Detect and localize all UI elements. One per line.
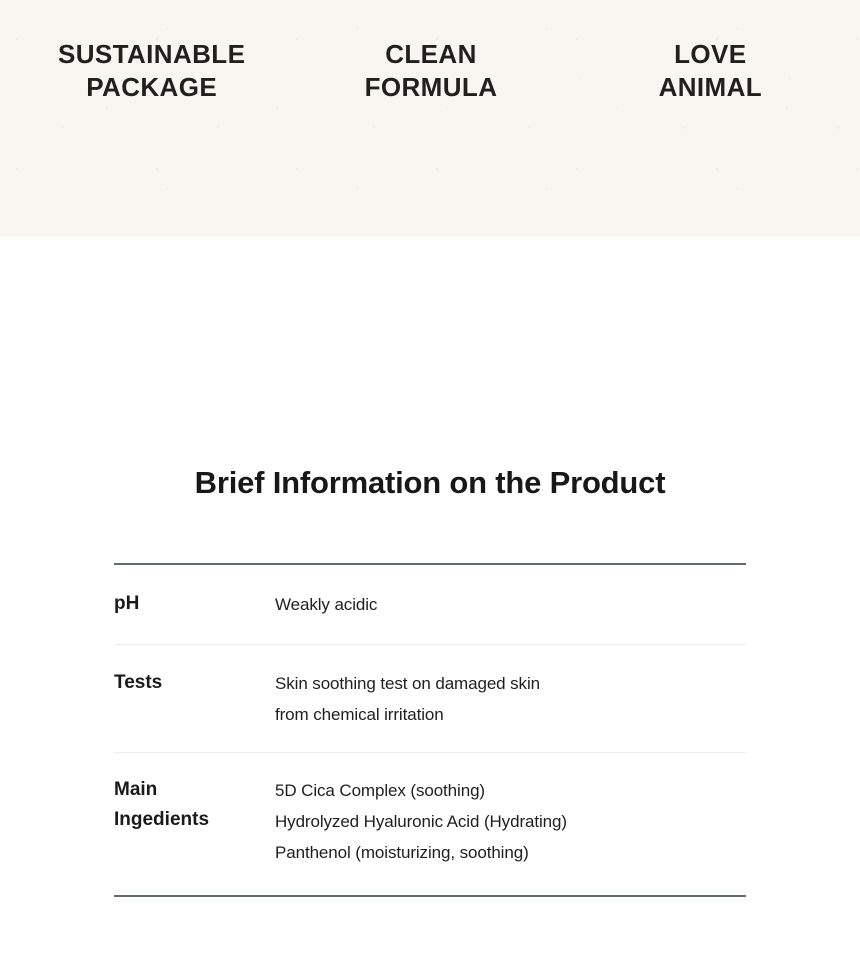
value-line: Panthenol (moisturizing, soothing): [275, 837, 746, 868]
brand-values-band: SUSTAINABLE PACKAGE CLEAN FORMULA LO: [0, 0, 860, 237]
value-line: 5D Cica Complex (soothing): [275, 775, 746, 806]
table-row-label: Main Ingedients: [114, 775, 275, 835]
table-row: pH Weakly acidic: [114, 565, 746, 644]
value-line: Skin soothing test on damaged skin: [275, 668, 746, 699]
brand-value-label: CLEAN FORMULA: [365, 38, 498, 104]
value-line: Weakly acidic: [275, 589, 746, 620]
table-row: Main Ingedients 5D Cica Complex (soothin…: [114, 752, 746, 895]
brand-value-label: LOVE ANIMAL: [659, 38, 763, 104]
table-row-label: pH: [114, 589, 275, 619]
table-row-value: Weakly acidic: [275, 589, 746, 620]
product-info-section: Brief Information on the Product pH Weak…: [0, 237, 860, 964]
value-line: from chemical irritation: [275, 699, 746, 730]
brand-value-label: SUSTAINABLE PACKAGE: [58, 38, 245, 104]
table-row-label: Tests: [114, 668, 275, 698]
brand-value-love-animal: LOVE ANIMAL: [571, 0, 850, 237]
value-line: Hydrolyzed Hyaluronic Acid (Hydrating): [275, 806, 746, 837]
brand-value-sustainable-package: SUSTAINABLE PACKAGE: [12, 0, 291, 237]
product-info-table: pH Weakly acidic Tests Skin soothing tes…: [114, 563, 746, 897]
table-row: Tests Skin soothing test on damaged skin…: [114, 644, 746, 752]
brand-value-clean-formula: CLEAN FORMULA: [291, 0, 570, 237]
table-row-value: Skin soothing test on damaged skin from …: [275, 668, 746, 730]
table-row-value: 5D Cica Complex (soothing) Hydrolyzed Hy…: [275, 775, 746, 868]
page-title: Brief Information on the Product: [0, 464, 860, 502]
brand-values-list: SUSTAINABLE PACKAGE CLEAN FORMULA LO: [0, 0, 860, 237]
